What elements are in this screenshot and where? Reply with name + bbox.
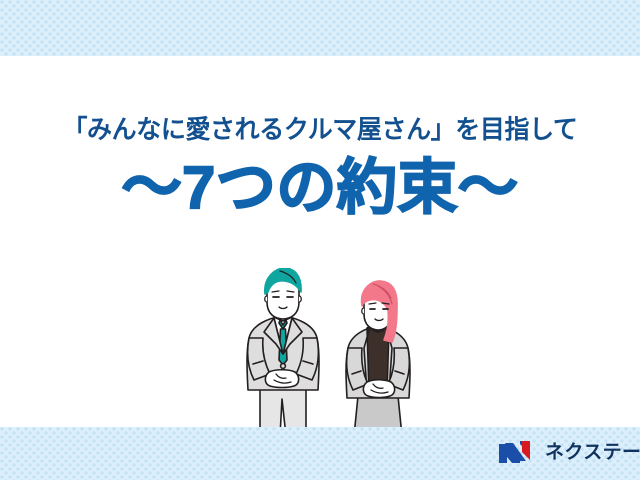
- staff-illustration-svg: [236, 268, 426, 436]
- male-ear-left: [265, 296, 267, 302]
- headline-primary: 「みんなに愛されるクルマ屋さん」を目指して: [6, 118, 633, 144]
- n-mark-left-stem: [499, 444, 507, 463]
- brand-logo: ネクステージ: [498, 440, 640, 464]
- nextage-n-mark-icon: [498, 440, 538, 464]
- female-ear-left: [362, 308, 364, 314]
- female-staff-figure: [346, 281, 410, 436]
- headline-block: 「みんなに愛されるクルマ屋さん」を目指して 〜7つの約束〜: [0, 118, 640, 219]
- top-dot-band: [0, 0, 640, 56]
- staff-illustration: [236, 268, 426, 436]
- brand-wordmark: ネクステージ: [545, 443, 640, 462]
- male-ear-right: [299, 296, 301, 302]
- headline-secondary: 〜7つの約束〜: [0, 156, 640, 219]
- male-staff-figure: [247, 268, 319, 436]
- male-jacket-button: [281, 364, 286, 369]
- promo-banner: 「みんなに愛されるクルマ屋さん」を目指して 〜7つの約束〜: [0, 0, 640, 480]
